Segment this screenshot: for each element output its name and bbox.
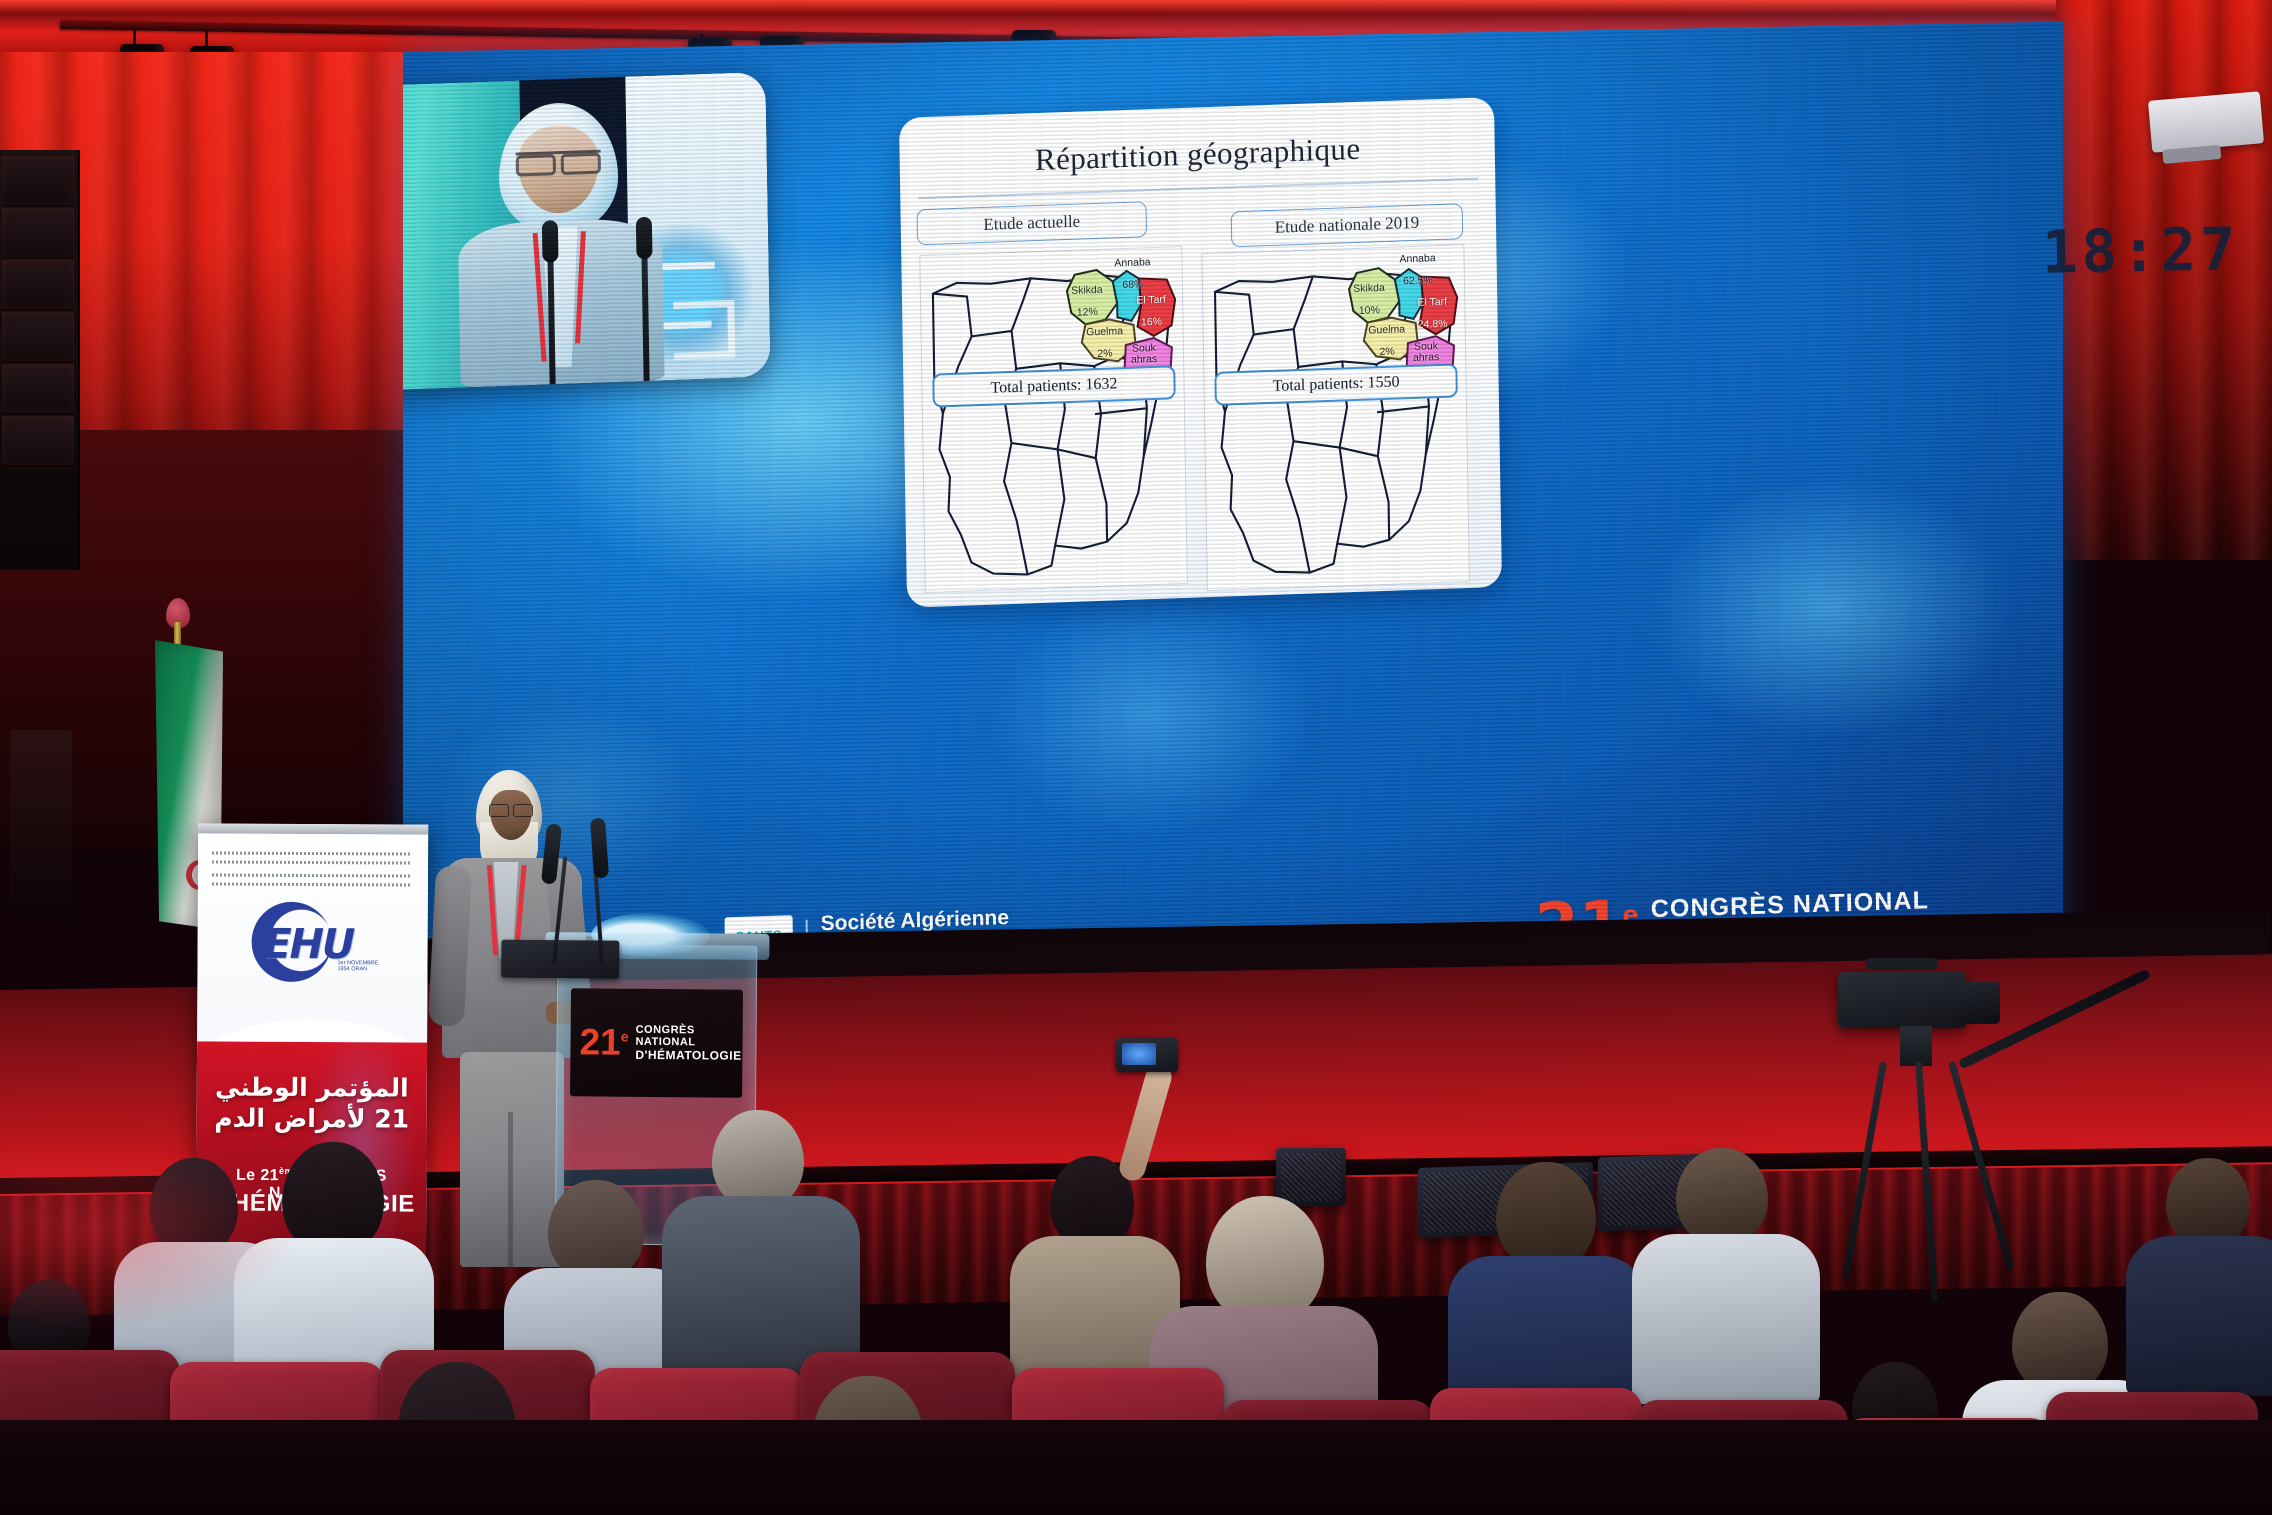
audience-head [548, 1180, 644, 1280]
smartphone-camera[interactable] [1116, 1038, 1178, 1072]
audience-body [2126, 1236, 2272, 1396]
camera-handle [1866, 958, 1938, 970]
lectern-congress-title: CONGRÈS NATIONAL D'HÉMATOLOGIE [635, 1024, 742, 1062]
led-video-wall: Répartition géographique Etude actuelle … [403, 22, 2063, 992]
audience-head [1206, 1196, 1324, 1322]
ceiling-projector [2148, 91, 2264, 153]
hall-clock-display: 18:27 [2041, 214, 2240, 286]
banner-patronage-line-1 [212, 851, 412, 855]
banner-patronage-line-3 [212, 873, 412, 877]
eyeglasses-icon [516, 150, 601, 170]
audience-head [712, 1110, 804, 1208]
audience-body [662, 1196, 860, 1376]
ceiling-light-strip [0, 0, 2272, 13]
subwoofer-cabinet [10, 730, 72, 920]
lectern-title-line-2: D'HÉMATOLOGIE [635, 1048, 742, 1062]
tab-etude-actuelle[interactable]: Etude actuelle [917, 201, 1148, 245]
region-label-skikda: Skikda 10% [1341, 272, 1398, 318]
conference-hall-scene: Répartition géographique Etude actuelle … [0, 0, 2272, 1515]
region-label-skikda: Skikda 12% [1059, 273, 1116, 319]
audience-head [1676, 1148, 1768, 1244]
audience-head [150, 1158, 238, 1254]
slide-title-bar: Répartition géographique [917, 112, 1478, 200]
live-video-feed-panel [403, 72, 771, 392]
line-array-speaker-stack [0, 150, 80, 570]
eyeglasses-icon [488, 804, 534, 815]
speaker-cabinet [2, 416, 74, 466]
banner-patronage-line-2 [212, 860, 412, 864]
audience-head [2166, 1158, 2250, 1246]
map-panel-etude-nationale: Annaba 62.5% Skikda 10% El Tarf 24.8% Gu… [1201, 244, 1470, 591]
audience-body [1632, 1234, 1820, 1404]
hall-floor [0, 1420, 2272, 1515]
slide-title: Répartition géographique [1035, 131, 1361, 178]
lectern-congress-plate: 21e CONGRÈS NATIONAL D'HÉMATOLOGIE [570, 988, 743, 1097]
banner-patronage-line-4 [212, 882, 412, 886]
banner-white-section: EHU 1er NOVEMBRE 1954 ORAN [197, 833, 428, 1049]
lectern-title-line-1: CONGRÈS NATIONAL [635, 1024, 742, 1049]
ehu-hospital-logo: EHU 1er NOVEMBRE 1954 ORAN [245, 896, 381, 985]
camera-lens [1958, 982, 2000, 1024]
speaker-cabinet [2, 208, 74, 258]
presentation-slide: Répartition géographique Etude actuelle … [899, 97, 1502, 608]
tab-etude-nationale-2019[interactable]: Etude nationale 2019 [1231, 203, 1464, 247]
speaker-cabinet [2, 260, 74, 310]
speaker-cabinet [2, 364, 74, 414]
broadcast-camera [1838, 972, 1966, 1028]
audience-head [2012, 1292, 2108, 1392]
tripod-head [1900, 1026, 1932, 1066]
lectern-edition-number: 21e [579, 1027, 628, 1059]
speaker-cabinet [2, 156, 74, 206]
audience-head [1496, 1162, 1596, 1268]
ehu-subtitle: 1er NOVEMBRE 1954 ORAN [337, 960, 381, 972]
map-panel-etude-actuelle: Annaba 68% Skikda 12% El Tarf 16% Guelma… [919, 246, 1188, 593]
speaker-cabinet [2, 312, 74, 362]
